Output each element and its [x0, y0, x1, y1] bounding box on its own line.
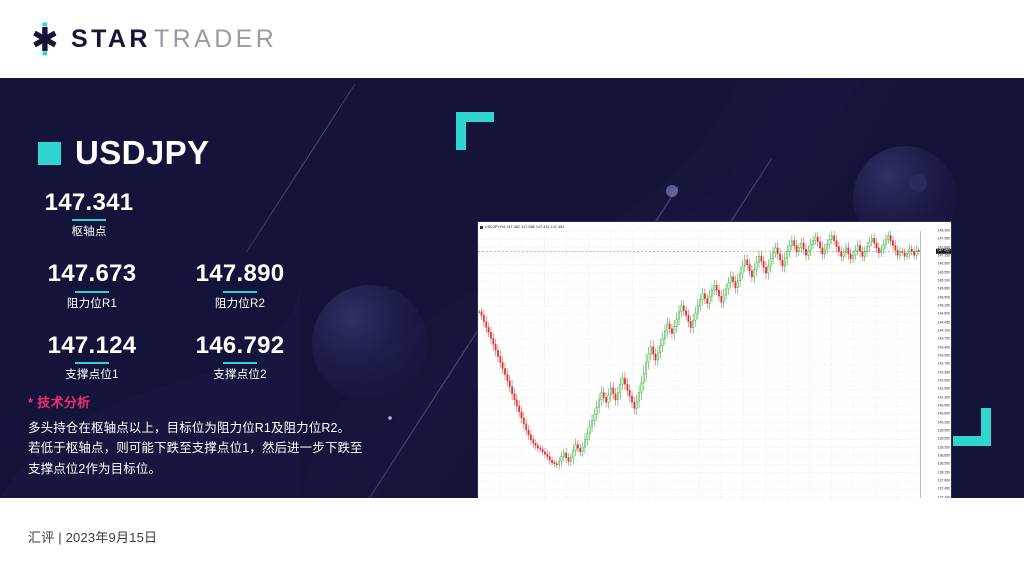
resistance-row: 147.673 阻力位R1 147.890 阻力位R2 [0, 261, 420, 310]
footer-caption: 汇评 | 2023年9月15日 [28, 527, 157, 546]
symbol-name: USDJPY [75, 134, 209, 172]
analysis-title: * 技术分析 [28, 392, 428, 411]
analysis-body: 多头持仓在枢轴点以上，目标位为阻力位R1及阻力位R2。 若低于枢轴点，则可能下跌… [28, 418, 428, 479]
level-pivot-label: 枢轴点 [71, 223, 106, 239]
level-s2: 146.792 支撑点位2 [180, 333, 300, 382]
y-axis-tick-label: 144.100 [938, 329, 950, 332]
current-price-tag: 147.452 [936, 249, 951, 254]
y-axis-tick-label: 147.950 [938, 238, 950, 241]
y-axis-tick-label: 146.900 [938, 263, 950, 266]
y-axis-tick-label: 142.700 [938, 363, 950, 366]
corner-bracket-top-left-icon [456, 112, 494, 150]
level-r2-value: 147.890 [196, 261, 285, 287]
level-r2-label: 阻力位R2 [215, 295, 265, 311]
chart-y-axis: 148.300147.950147.600147.250146.900146.5… [920, 231, 951, 498]
y-axis-tick-label: 147.250 [938, 254, 950, 257]
symbol-heading: USDJPY [38, 134, 209, 172]
technical-analysis: * 技术分析 多头持仓在枢轴点以上，目标位为阻力位R1及阻力位R2。 若低于枢轴… [28, 392, 428, 479]
chart-title-marker-icon [480, 226, 483, 229]
page-footer: 汇评 | 2023年9月15日 [0, 498, 1024, 576]
level-underline [75, 362, 109, 364]
y-axis-tick-label: 143.750 [938, 338, 950, 341]
brand-logo: STAR TRADER [28, 22, 277, 56]
corner-bracket-bottom-right-icon [953, 408, 991, 446]
y-axis-tick-label: 140.950 [938, 404, 950, 407]
level-s1-value: 147.124 [48, 333, 137, 359]
y-axis-tick-label: 139.200 [938, 446, 950, 449]
level-pivot: 147.341 枢轴点 [0, 190, 178, 239]
page-header: STAR TRADER [0, 0, 1024, 78]
main-panel: USDJPY 147.341 枢轴点 147.673 阻力位R1 147.890… [0, 78, 1024, 498]
y-axis-tick-label: 148.300 [938, 229, 950, 232]
level-s2-value: 146.792 [196, 333, 285, 359]
y-axis-tick-label: 140.250 [938, 421, 950, 424]
level-r1: 147.673 阻力位R1 [32, 261, 152, 310]
pivot-row: 147.341 枢轴点 [0, 190, 420, 239]
level-s2-label: 支撑点位2 [213, 366, 266, 382]
y-axis-tick-label: 137.800 [938, 479, 950, 482]
chart-title: USDJPY,H4 147.482 147.686 147.431 147.45… [480, 223, 564, 231]
level-r2: 147.890 阻力位R2 [180, 261, 300, 310]
y-axis-tick-label: 141.650 [938, 388, 950, 391]
asterisk-star-icon [28, 22, 62, 56]
y-axis-tick-label: 146.550 [938, 271, 950, 274]
y-axis-tick-label: 142.000 [938, 379, 950, 382]
y-axis-tick-label: 138.850 [938, 454, 950, 457]
y-axis-tick-label: 145.150 [938, 304, 950, 307]
y-axis-tick-label: 145.500 [938, 296, 950, 299]
y-axis-tick-label: 143.050 [938, 354, 950, 357]
level-s1: 147.124 支撑点位1 [32, 333, 152, 382]
y-axis-tick-label: 142.350 [938, 371, 950, 374]
y-axis-tick-label: 146.200 [938, 279, 950, 282]
level-underline [75, 291, 109, 293]
chart-zone: USDJPY,H4 147.482 147.686 147.431 147.45… [448, 108, 1008, 468]
chart-plot-area[interactable] [478, 231, 920, 498]
y-axis-tick-label: 138.500 [938, 463, 950, 466]
pivot-levels: 147.341 枢轴点 147.673 阻力位R1 147.890 阻力位R2 … [0, 190, 420, 382]
level-s1-label: 支撑点位1 [65, 366, 118, 382]
y-axis-tick-label: 140.600 [938, 413, 950, 416]
y-axis-tick-label: 139.550 [938, 438, 950, 441]
brand-name-light: TRADER [154, 25, 277, 54]
y-axis-tick-label: 143.400 [938, 346, 950, 349]
chart-title-text: USDJPY,H4 147.482 147.686 147.431 147.45… [485, 225, 564, 229]
analysis-line-2: 若低于枢轴点，则可能下跌至支撑点位1，然后进一步下跌至 [28, 438, 428, 458]
level-underline [72, 219, 106, 221]
analysis-line-1: 多头持仓在枢轴点以上，目标位为阻力位R1及阻力位R2。 [28, 418, 428, 438]
analysis-line-3: 支撑点位2作为目标位。 [28, 459, 428, 479]
candlestick-series [478, 231, 920, 498]
y-axis-tick-label: 144.450 [938, 321, 950, 324]
level-r1-label: 阻力位R1 [67, 295, 117, 311]
y-axis-tick-label: 141.300 [938, 396, 950, 399]
brand-name-bold: STAR [71, 25, 151, 54]
accent-square-icon [38, 142, 61, 165]
support-row: 147.124 支撑点位1 146.792 支撑点位2 [0, 333, 420, 382]
price-chart[interactable]: USDJPY,H4 147.482 147.686 147.431 147.45… [477, 221, 952, 498]
level-underline [223, 362, 257, 364]
y-axis-tick-label: 137.450 [938, 488, 950, 491]
level-pivot-value: 147.341 [45, 190, 134, 216]
y-axis-tick-label: 144.800 [938, 313, 950, 316]
y-axis-tick-label: 145.850 [938, 288, 950, 291]
y-axis-tick-label: 138.150 [938, 471, 950, 474]
level-underline [223, 291, 257, 293]
level-r1-value: 147.673 [48, 261, 137, 287]
y-axis-tick-label: 139.900 [938, 429, 950, 432]
